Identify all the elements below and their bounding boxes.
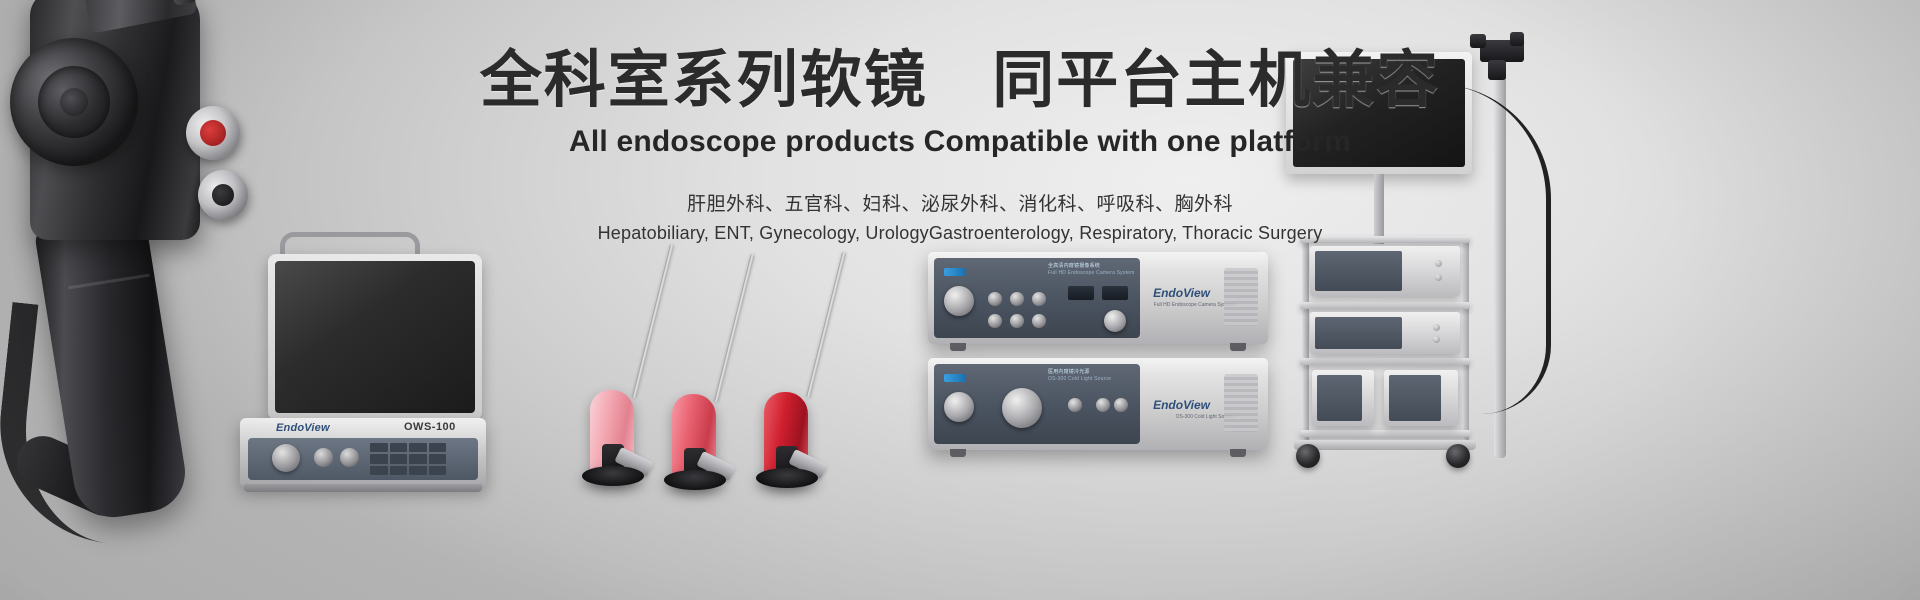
camera-system-foot-right: [1230, 343, 1246, 351]
instrument-base-pad: [664, 470, 726, 490]
light-source-brand: EndoView: [1153, 398, 1210, 412]
scope-head-stem: [1488, 60, 1506, 80]
surgical-instrument-red-image: [748, 268, 898, 490]
light-source-title-en: OS-300 Cold Light Source: [1048, 376, 1111, 382]
cart-monitor-post: [1374, 174, 1384, 244]
camera-system-small-knob-2: [1010, 292, 1024, 306]
cart-shelf-4: [1300, 430, 1470, 437]
camera-system-small-knob-6: [1032, 314, 1046, 328]
cart-rail-left: [1302, 236, 1309, 448]
instrument-shaft: [806, 252, 846, 399]
light-source-small-knob-2: [1096, 398, 1110, 412]
camera-system-badge: [944, 268, 966, 276]
camera-system-small-knob-4: [988, 314, 1002, 328]
camera-system-knob: [944, 286, 974, 316]
scope-head-assembly: [1454, 34, 1546, 86]
processor-stack-image: 全高清内窥镜摄像系统 Full HD Endoscope Camera Syst…: [928, 252, 1276, 460]
camera-system-small-knob-5: [1010, 314, 1024, 328]
endoscope-handle-image: [0, 0, 320, 540]
camera-system-brand: EndoView: [1153, 286, 1210, 300]
light-source-badge: [944, 374, 966, 382]
light-source-knob: [944, 392, 974, 422]
instrument-base-pad: [582, 466, 644, 486]
cart-wheel-right: [1446, 444, 1470, 468]
cart-device-4-panel: [1389, 375, 1441, 421]
light-source-unit: 医用内窥镜冷光源 OS-300 Cold Light Source EndoVi…: [928, 358, 1268, 450]
camera-system-small-knob-1: [988, 292, 1002, 306]
endoscope-gray-button: [194, 166, 253, 225]
cart-wheel-left: [1296, 444, 1320, 468]
light-source-small-knob-3: [1114, 398, 1128, 412]
scope-head-knob-2: [1510, 32, 1524, 46]
cart-device-2-panel: [1315, 317, 1402, 349]
cart-device-1-panel: [1315, 251, 1402, 291]
instrument-base-pad: [756, 468, 818, 488]
light-source-foot-right: [1230, 449, 1246, 457]
light-source-small-knob-1: [1068, 398, 1082, 412]
workstation-model-label: OWS-100: [404, 421, 456, 433]
camera-system-dial: [1104, 310, 1126, 332]
workstation-knob-3: [340, 448, 359, 467]
scope-head-knob-1: [1470, 34, 1486, 48]
cart-device-3: [1312, 370, 1374, 426]
light-source-title-cn: 医用内窥镜冷光源: [1048, 368, 1090, 375]
camera-system-small-knob-3: [1032, 292, 1046, 306]
product-banner: EndoView OWS-100: [0, 0, 1920, 600]
camera-system-port-1: [1068, 286, 1094, 300]
camera-system-title-cn: 全高清内窥镜摄像系统: [1048, 262, 1100, 269]
workstation-keypad: [370, 443, 446, 475]
cart-device-3-panel: [1317, 375, 1362, 421]
camera-system-port-2: [1102, 286, 1128, 300]
scope-cable: [1436, 84, 1551, 414]
light-source-foot-left: [950, 449, 966, 457]
camera-system-subbrand: Full HD Endoscope Camera System: [1154, 302, 1234, 308]
camera-system-foot-left: [950, 343, 966, 351]
endoscopy-cart-image: [1286, 40, 1546, 490]
camera-system-unit: 全高清内窥镜摄像系统 Full HD Endoscope Camera Syst…: [928, 252, 1268, 344]
light-source-main-dial: [1002, 388, 1042, 428]
light-source-vent: [1224, 374, 1258, 432]
camera-system-vent: [1224, 268, 1258, 326]
camera-system-title-en: Full HD Endoscope Camera System: [1048, 270, 1135, 276]
headline-part-1: 全科室系列软镜: [480, 46, 928, 115]
